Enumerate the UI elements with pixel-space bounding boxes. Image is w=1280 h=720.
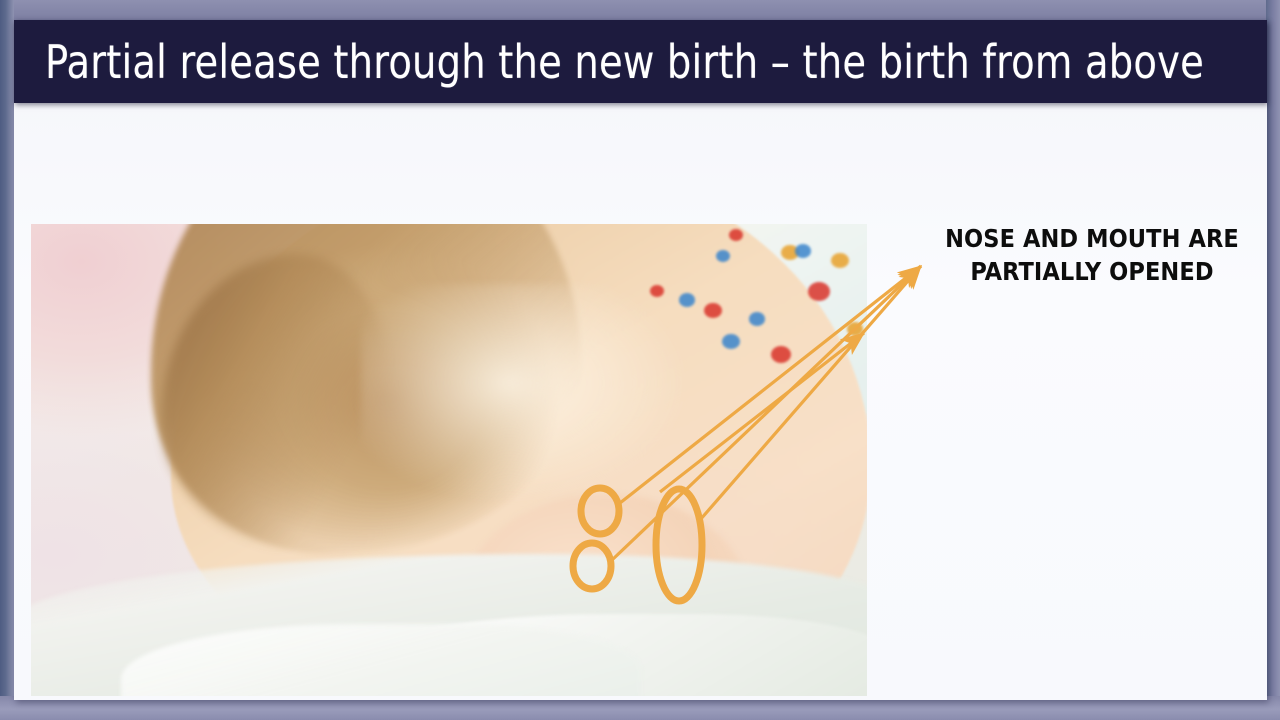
fabric-dot: [716, 250, 730, 262]
forehead-highlight: [361, 284, 691, 504]
slide-frame-left-border: [0, 0, 14, 720]
fabric-dot: [771, 346, 791, 363]
callout-text-block: NOSE AND MOUTH ARE PARTIALLY OPENED: [912, 222, 1272, 288]
fabric-dot: [847, 322, 863, 336]
callout-line-2: PARTIALLY OPENED: [912, 255, 1272, 288]
fabric-dot: [679, 293, 695, 307]
fabric-dot: [808, 282, 830, 301]
slide-title: Partial release through the new birth – …: [45, 35, 1204, 89]
slide-root: Partial release through the new birth – …: [0, 0, 1280, 720]
slide-frame-right-border: [1266, 0, 1280, 720]
fabric-dot: [729, 229, 743, 241]
fabric-dot: [795, 244, 811, 258]
baby-photo: [31, 224, 867, 696]
fabric-dot: [650, 285, 664, 297]
callout-line-1: NOSE AND MOUTH ARE: [912, 222, 1272, 255]
fabric-dot: [749, 312, 765, 326]
slide-frame-top-border: [0, 0, 1280, 22]
slide-title-bar: Partial release through the new birth – …: [14, 20, 1267, 103]
